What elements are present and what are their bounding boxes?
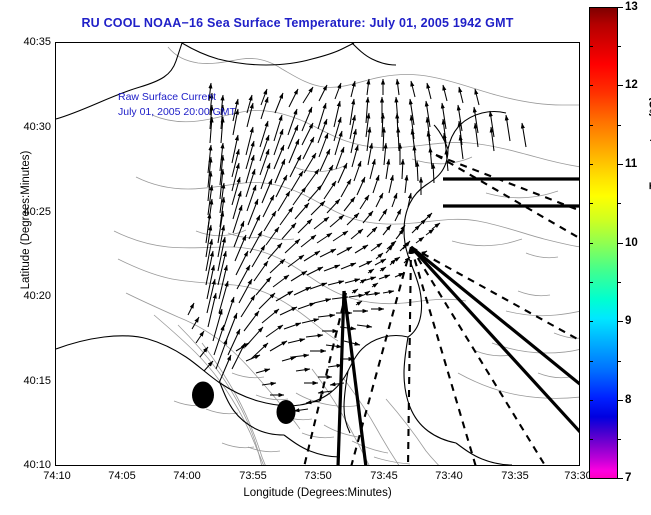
y-tick-label: 40:35 [3, 36, 51, 48]
colorbar-inner-tick [589, 361, 593, 362]
x-tick-label-group: 74:10 74:05 74:00 73:55 73:50 73:45 73:4… [0, 470, 651, 486]
colorbar-tick-label: 10 [625, 237, 638, 249]
x-tick-label: 73:50 [288, 470, 348, 482]
colorbar-tick [618, 478, 623, 479]
colorbar-inner-tick [589, 125, 593, 126]
x-tick-label: 73:55 [223, 470, 283, 482]
colorbar-inner-tick [589, 400, 593, 401]
colorbar-tick [618, 400, 623, 401]
colorbar-tick-label: 11 [625, 158, 637, 170]
x-tick-label: 73:35 [485, 470, 545, 482]
colorbar-inner-tick [589, 85, 593, 86]
colorbar-minor-tick [618, 203, 621, 204]
x-axis-label: Longitude (Degrees:Minutes) [55, 487, 580, 499]
map-plot-area[interactable]: Raw Surface Current July 01, 2005 20:00 … [55, 42, 580, 466]
colorbar-tick-label: 12 [625, 79, 638, 91]
x-tick-label: 73:45 [354, 470, 414, 482]
radar-beam-solid [338, 179, 580, 466]
colorbar-minor-tick [618, 361, 621, 362]
colorbar-tick [618, 321, 623, 322]
colorbar-tick [618, 164, 623, 165]
colorbar-inner-tick [589, 321, 593, 322]
colorbar-tick [618, 85, 623, 86]
colorbar-tick-label: 8 [625, 394, 631, 406]
page-title: RU COOL NOAA−16 Sea Surface Temperature:… [0, 16, 595, 30]
colorbar-inner-tick [589, 164, 593, 165]
radar-site-marker [192, 382, 214, 409]
map-graphics [56, 43, 580, 466]
y-tick-label: 40:15 [3, 375, 51, 387]
colorbar-tick [618, 243, 623, 244]
colorbar-inner-tick [589, 439, 593, 440]
colorbar-gradient [589, 7, 618, 479]
colorbar-minor-tick [618, 439, 621, 440]
colorbar-minor-tick [618, 282, 621, 283]
colorbar-tick [618, 7, 623, 8]
radar-site-marker [277, 400, 296, 424]
x-tick-label: 74:00 [157, 470, 217, 482]
colorbar-inner-tick [589, 203, 593, 204]
bathymetry-contours [114, 47, 580, 466]
x-tick-label: 73:40 [419, 470, 479, 482]
x-tick-label: 74:10 [27, 470, 87, 482]
colorbar-tick-label: 13 [625, 1, 638, 13]
colorbar-inner-tick [589, 282, 593, 283]
colorbar-inner-tick [589, 243, 593, 244]
x-tick-label: 74:05 [92, 470, 152, 482]
colorbar-tick-label: 7 [625, 472, 631, 484]
colorbar-minor-tick [618, 46, 621, 47]
colorbar-minor-tick [618, 125, 621, 126]
colorbar-tick-label: 9 [625, 315, 631, 327]
y-axis-label: Latitude (Degrees:Minutes) [20, 110, 32, 330]
colorbar[interactable]: 13 12 11 10 9 8 7 Temperature (°C) [589, 7, 651, 487]
surface-current-vectors [188, 79, 526, 395]
colorbar-inner-tick [589, 46, 593, 47]
figure-canvas: RU COOL NOAA−16 Sea Surface Temperature:… [0, 0, 651, 515]
radar-site-markers [192, 382, 296, 425]
